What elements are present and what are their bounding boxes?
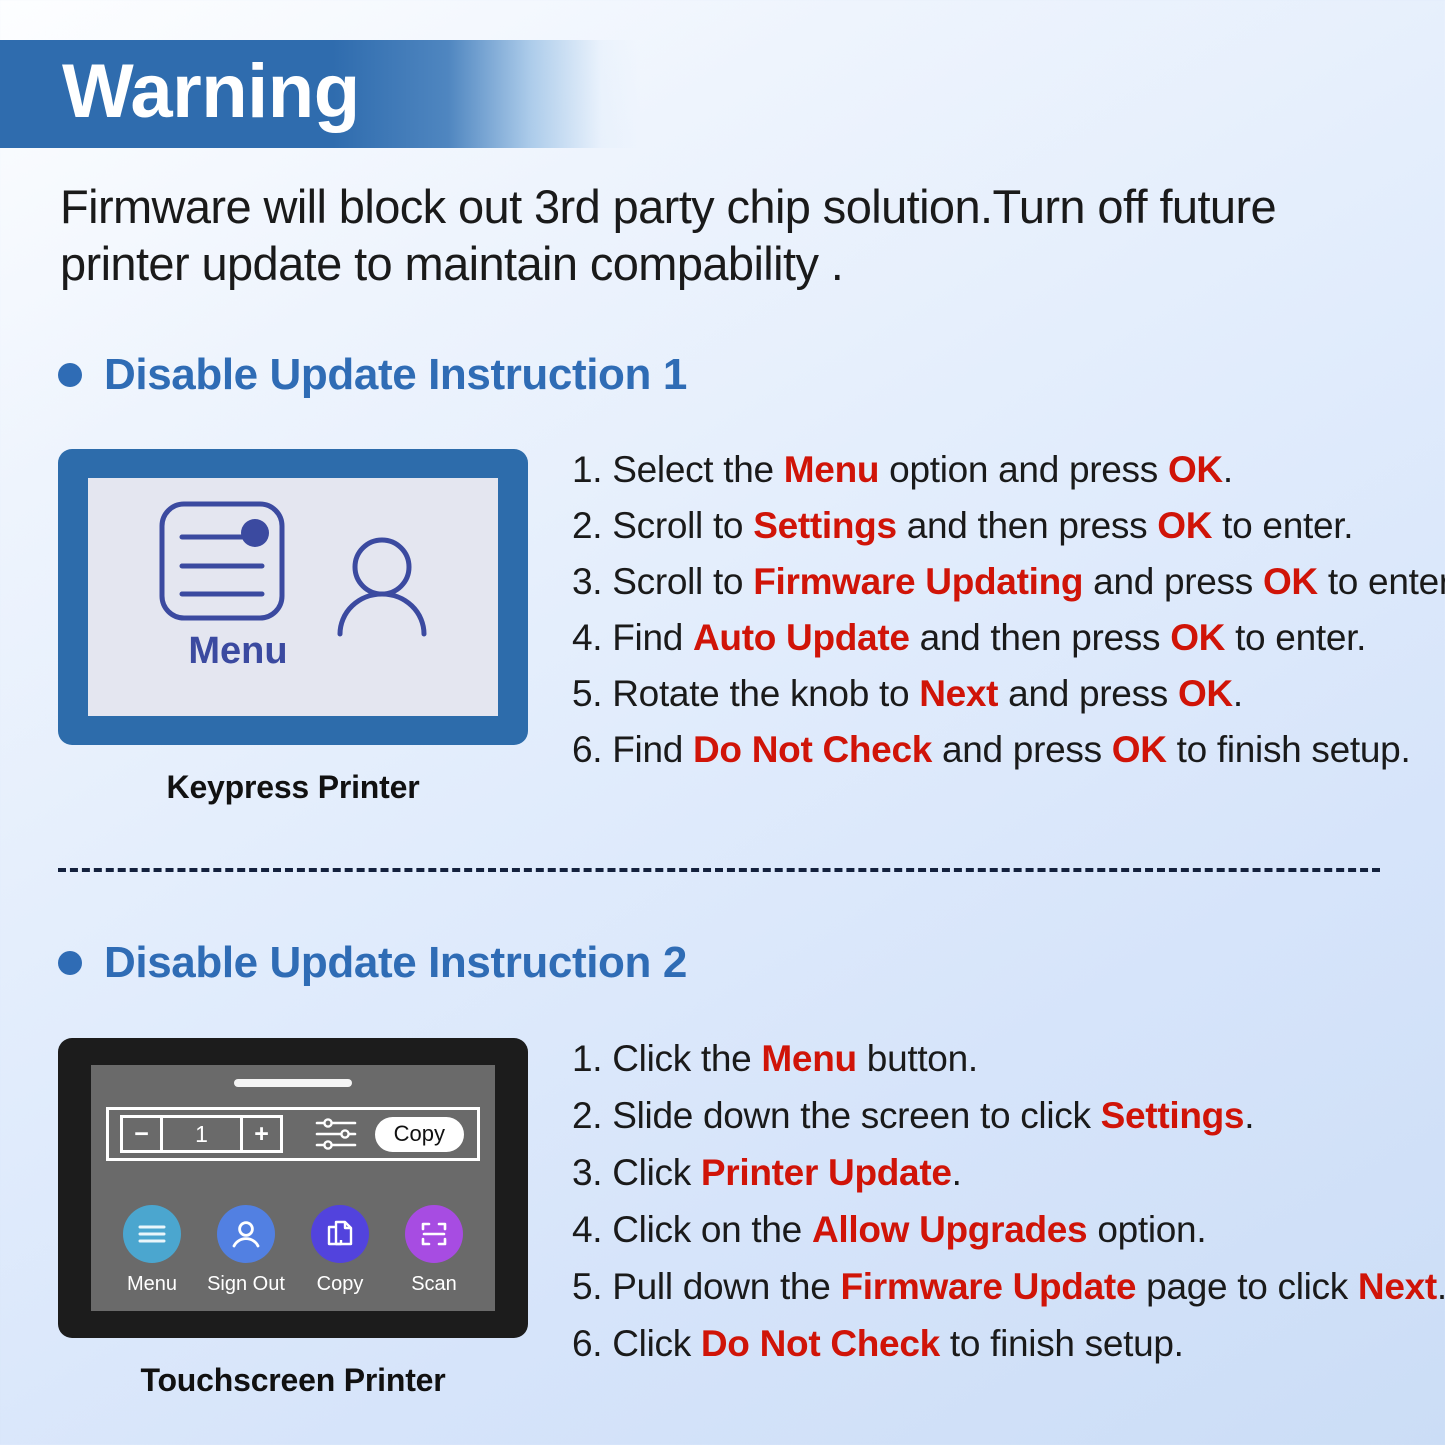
menu-list-icon[interactable]: [158, 500, 286, 622]
section-divider: [58, 868, 1380, 872]
step-highlight: OK: [1263, 561, 1318, 602]
copy-button[interactable]: Copy: [375, 1117, 464, 1152]
step-highlight: Do Not Check: [693, 729, 932, 770]
person-icon[interactable]: [336, 534, 428, 638]
step-text: Find: [602, 729, 693, 770]
copy-count-value: 1: [163, 1118, 240, 1150]
touchscreen-topbar: − 1 + Copy: [106, 1107, 480, 1161]
step-text: option.: [1087, 1209, 1206, 1250]
step-text: to enter.: [1318, 561, 1445, 602]
step-number: 6.: [572, 729, 602, 770]
keypress-menu-label: Menu: [88, 630, 498, 673]
touchscreen-app-row: Menu Sign Out: [105, 1205, 481, 1294]
app-button-sign-out[interactable]: Sign Out: [200, 1205, 292, 1294]
step-highlight: Settings: [753, 505, 897, 546]
instruction-step: 1. Select the Menu option and press OK.: [572, 442, 1445, 498]
step-text: Find: [602, 617, 693, 658]
step-text: .: [1437, 1266, 1445, 1307]
app-label-menu: Menu: [127, 1274, 177, 1294]
step-text: Select the: [602, 449, 784, 490]
step-text: .: [1233, 673, 1243, 714]
copy-count-stepper[interactable]: − 1 +: [120, 1115, 283, 1153]
sliders-icon[interactable]: [315, 1117, 357, 1151]
step-highlight: OK: [1112, 729, 1167, 770]
step-highlight: OK: [1157, 505, 1212, 546]
step-text: Rotate the knob to: [602, 673, 919, 714]
step-highlight: OK: [1178, 673, 1233, 714]
step-number: 4.: [572, 1209, 602, 1250]
bullet-icon: [58, 363, 82, 387]
instruction-list-2: 1. Click the Menu button.2. Slide down t…: [572, 1030, 1445, 1372]
instruction-step: 6. Find Do Not Check and press OK to fin…: [572, 722, 1445, 778]
step-text: to finish setup.: [1167, 729, 1411, 770]
step-highlight: Next: [1358, 1266, 1437, 1307]
step-text: and press: [932, 729, 1112, 770]
step-number: 5.: [572, 673, 602, 714]
step-text: Click: [602, 1152, 701, 1193]
instruction-step: 2. Slide down the screen to click Settin…: [572, 1087, 1445, 1144]
instruction-step: 3. Click Printer Update.: [572, 1144, 1445, 1201]
step-number: 3.: [572, 561, 602, 602]
step-text: Scroll to: [602, 505, 753, 546]
step-number: 2.: [572, 505, 602, 546]
increment-button[interactable]: +: [240, 1118, 280, 1150]
step-highlight: Allow Upgrades: [812, 1209, 1087, 1250]
step-highlight: Firmware Update: [840, 1266, 1136, 1307]
step-text: page to click: [1136, 1266, 1358, 1307]
step-number: 5.: [572, 1266, 602, 1307]
bullet-icon: [58, 951, 82, 975]
warning-banner: Warning: [0, 40, 640, 148]
instruction-step: 6. Click Do Not Check to finish setup.: [572, 1315, 1445, 1372]
speaker-bar: [234, 1079, 352, 1087]
person-icon: [229, 1217, 263, 1251]
scan-frame-icon: [417, 1217, 451, 1251]
app-button-copy[interactable]: Copy: [294, 1205, 386, 1294]
step-highlight: Firmware Updating: [753, 561, 1083, 602]
touchscreen-printer-bezel: − 1 + Copy: [58, 1038, 528, 1338]
instruction-step: 4. Click on the Allow Upgrades option.: [572, 1201, 1445, 1258]
keypress-printer-caption: Keypress Printer: [58, 769, 528, 806]
app-circle-copy[interactable]: [311, 1205, 369, 1263]
decrement-button[interactable]: −: [123, 1118, 163, 1150]
app-button-scan[interactable]: Scan: [388, 1205, 480, 1294]
step-highlight: OK: [1168, 449, 1223, 490]
step-text: button.: [857, 1038, 978, 1079]
step-highlight: Do Not Check: [701, 1323, 940, 1364]
keypress-screen-icons: [88, 500, 498, 638]
step-highlight: Auto Update: [693, 617, 910, 658]
step-text: .: [1223, 449, 1233, 490]
keypress-printer-screen: Menu: [88, 478, 498, 716]
step-text: Click: [602, 1323, 701, 1364]
step-text: to enter.: [1225, 617, 1366, 658]
step-highlight: Menu: [784, 449, 879, 490]
section-heading-2-label: Disable Update Instruction 2: [104, 938, 687, 988]
step-highlight: Settings: [1101, 1095, 1245, 1136]
instruction-step: 2. Scroll to Settings and then press OK …: [572, 498, 1445, 554]
step-text: .: [952, 1152, 962, 1193]
touchscreen-printer-screen[interactable]: − 1 + Copy: [91, 1065, 495, 1311]
step-text: to finish setup.: [940, 1323, 1184, 1364]
app-label-scan: Scan: [411, 1274, 457, 1294]
instruction-step: 1. Click the Menu button.: [572, 1030, 1445, 1087]
step-number: 1.: [572, 1038, 602, 1079]
step-text: to enter.: [1212, 505, 1353, 546]
step-text: .: [1244, 1095, 1254, 1136]
step-text: Slide down the screen to click: [602, 1095, 1100, 1136]
step-text: Click on the: [602, 1209, 812, 1250]
step-number: 1.: [572, 449, 602, 490]
step-text: and then press: [910, 617, 1171, 658]
step-highlight: Menu: [761, 1038, 856, 1079]
step-text: and press: [1083, 561, 1263, 602]
app-circle-menu[interactable]: [123, 1205, 181, 1263]
step-text: and then press: [897, 505, 1158, 546]
step-text: Click the: [602, 1038, 761, 1079]
step-highlight: OK: [1170, 617, 1225, 658]
instruction-step: 5. Pull down the Firmware Update page to…: [572, 1258, 1445, 1315]
step-text: Scroll to: [602, 561, 753, 602]
step-number: 4.: [572, 617, 602, 658]
section-heading-1: Disable Update Instruction 1: [58, 350, 687, 400]
step-highlight: Next: [919, 673, 998, 714]
step-text: Pull down the: [602, 1266, 840, 1307]
step-highlight: Printer Update: [701, 1152, 952, 1193]
instruction-step: 4. Find Auto Update and then press OK to…: [572, 610, 1445, 666]
touchscreen-printer-caption: Touchscreen Printer: [58, 1362, 528, 1399]
step-text: option and press: [879, 449, 1168, 490]
app-button-menu[interactable]: Menu: [106, 1205, 198, 1294]
step-text: and press: [998, 673, 1178, 714]
app-circle-scan[interactable]: [405, 1205, 463, 1263]
section-heading-2: Disable Update Instruction 2: [58, 938, 687, 988]
app-circle-sign-out[interactable]: [217, 1205, 275, 1263]
touchscreen-printer-figure: − 1 + Copy: [58, 1038, 528, 1399]
app-label-copy: Copy: [317, 1274, 364, 1294]
app-label-sign-out: Sign Out: [207, 1274, 285, 1294]
keypress-printer-frame: Menu: [58, 449, 528, 745]
documents-icon: [323, 1217, 357, 1251]
step-number: 3.: [572, 1152, 602, 1193]
intro-paragraph: Firmware will block out 3rd party chip s…: [60, 178, 1290, 293]
warning-title: Warning: [0, 54, 360, 130]
instruction-list-1: 1. Select the Menu option and press OK.2…: [572, 442, 1445, 778]
keypress-printer-figure: Menu Keypress Printer: [58, 449, 528, 806]
section-heading-1-label: Disable Update Instruction 1: [104, 350, 687, 400]
instruction-step: 3. Scroll to Firmware Updating and press…: [572, 554, 1445, 610]
step-number: 2.: [572, 1095, 602, 1136]
instruction-step: 5. Rotate the knob to Next and press OK.: [572, 666, 1445, 722]
hamburger-icon: [135, 1217, 169, 1251]
step-number: 6.: [572, 1323, 602, 1364]
